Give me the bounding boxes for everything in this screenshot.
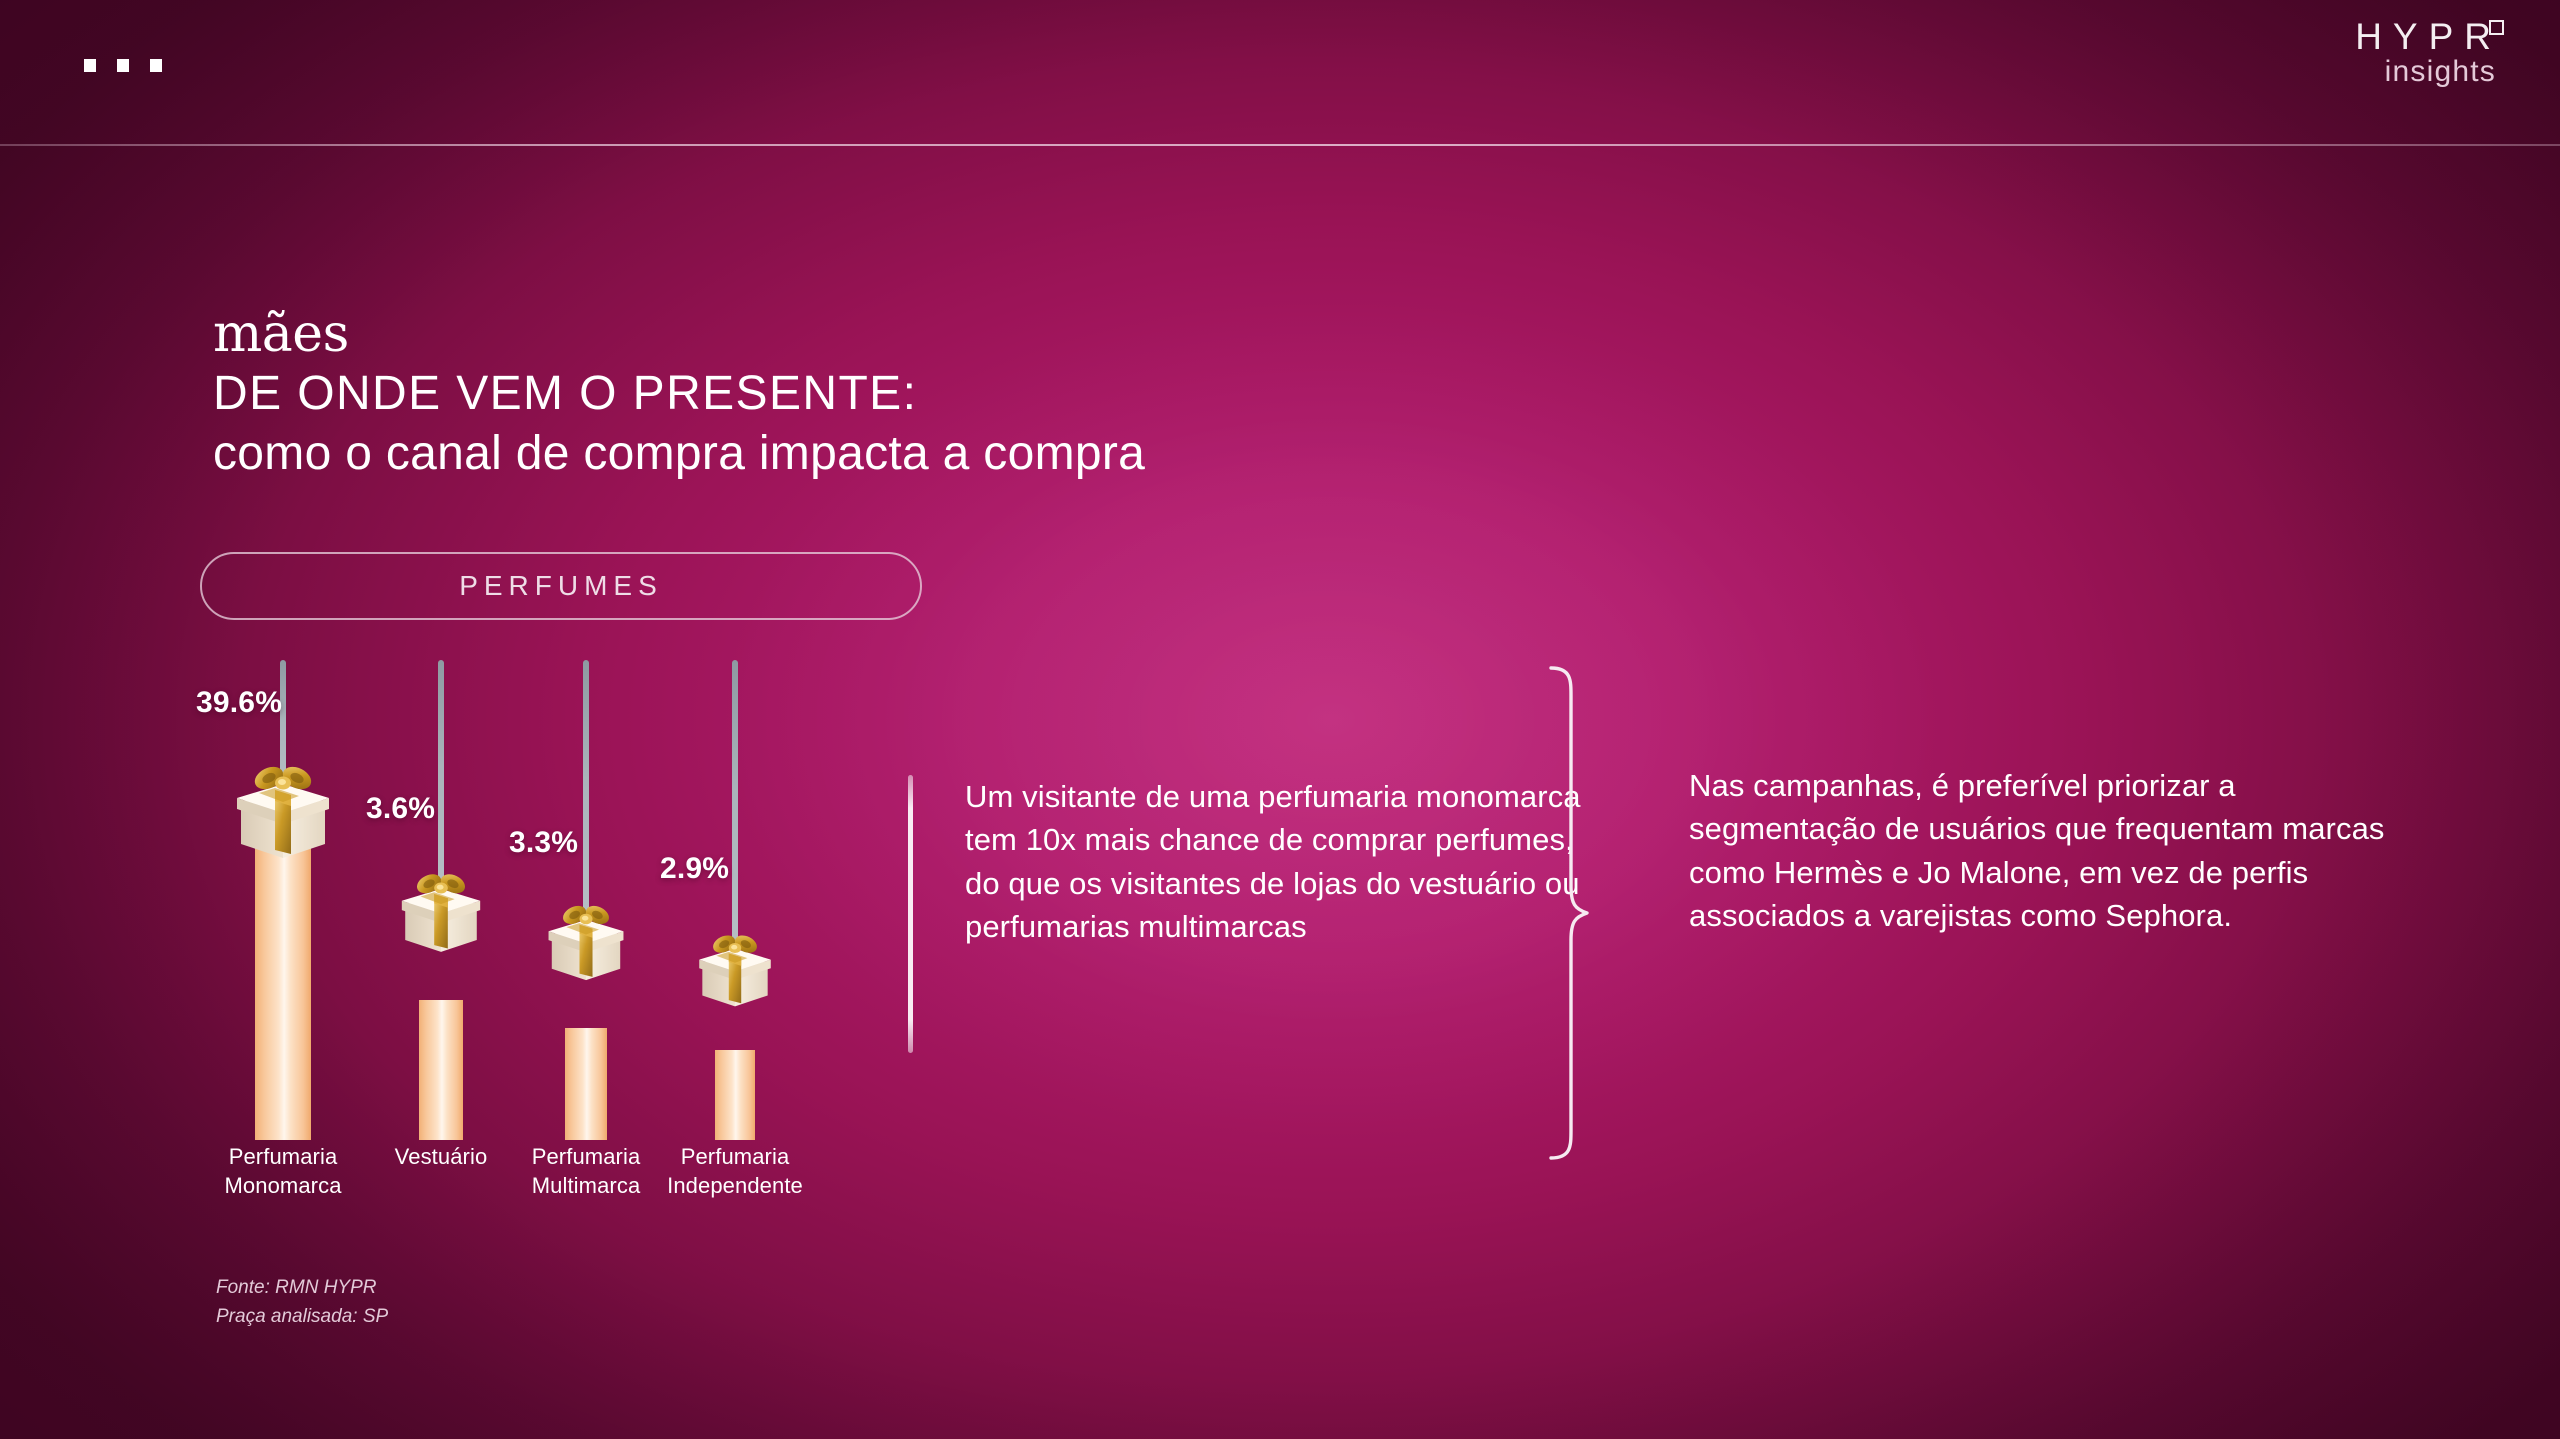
gift-box-icon (542, 898, 630, 984)
dot-3 (150, 59, 162, 72)
source-line-1: Fonte: RMN HYPR (216, 1274, 388, 1303)
bar-value-label: 39.6% (196, 686, 282, 720)
chart-column: 2.9% (640, 660, 830, 1140)
logo-subtitle: insights (2355, 57, 2496, 87)
page-title: DE ONDE VEM O PRESENTE: (213, 367, 1145, 421)
category-pill-perfumes[interactable]: PERFUMES (200, 552, 922, 620)
bar-category-label: Perfumaria Independente (640, 1142, 830, 1200)
logo-square-icon (2489, 20, 2504, 35)
insight-primary-text: Um visitante de uma perfumaria monomarca… (965, 775, 1585, 1053)
brand-logo: HYPR insights (2355, 18, 2502, 87)
bar-category-line2: Independente (640, 1171, 830, 1200)
insight-callout-primary: Um visitante de uma perfumaria monomarca… (908, 775, 1585, 1053)
bar-fill (715, 1050, 755, 1140)
bar-chart: 39.6% (188, 660, 908, 1140)
title-block: mães DE ONDE VEM O PRESENTE: como o cana… (213, 308, 1145, 481)
dot-1 (84, 59, 96, 72)
bar-value-label: 3.3% (509, 826, 578, 860)
header-bar: HYPR insights (0, 0, 2560, 147)
source-line-2: Praça analisada: SP (216, 1303, 388, 1332)
bar-fill (255, 846, 311, 1140)
insight-secondary-text: Nas campanhas, é preferível priorizar a … (1689, 764, 2419, 938)
curly-brace-icon (1545, 664, 1591, 1162)
bar-value-label: 2.9% (660, 852, 729, 886)
bar-category-line1: Perfumaria (640, 1142, 830, 1171)
menu-dots-icon[interactable] (84, 59, 162, 72)
dot-2 (117, 59, 129, 72)
header-divider (0, 144, 2560, 146)
vertical-rule-divider (908, 775, 913, 1053)
bar-category-line2: Monomarca (188, 1171, 378, 1200)
bar-fill (565, 1028, 607, 1140)
bar-value-label: 3.6% (366, 792, 435, 826)
gift-box-icon (693, 928, 777, 1010)
page-subtitle: como o canal de compra impacta a compra (213, 427, 1145, 481)
gift-box-icon (229, 758, 337, 862)
slide-canvas: HYPR insights mães DE ONDE VEM O PRESENT… (0, 0, 2560, 1439)
source-note: Fonte: RMN HYPR Praça analisada: SP (216, 1274, 388, 1331)
bar-fill (419, 1000, 463, 1140)
title-kicker: mães (213, 308, 1145, 360)
category-pill-label: PERFUMES (459, 570, 663, 602)
logo-wordmark: HYPR (2355, 18, 2502, 55)
logo-text: HYPR (2355, 16, 2502, 57)
gift-box-icon (395, 866, 487, 956)
